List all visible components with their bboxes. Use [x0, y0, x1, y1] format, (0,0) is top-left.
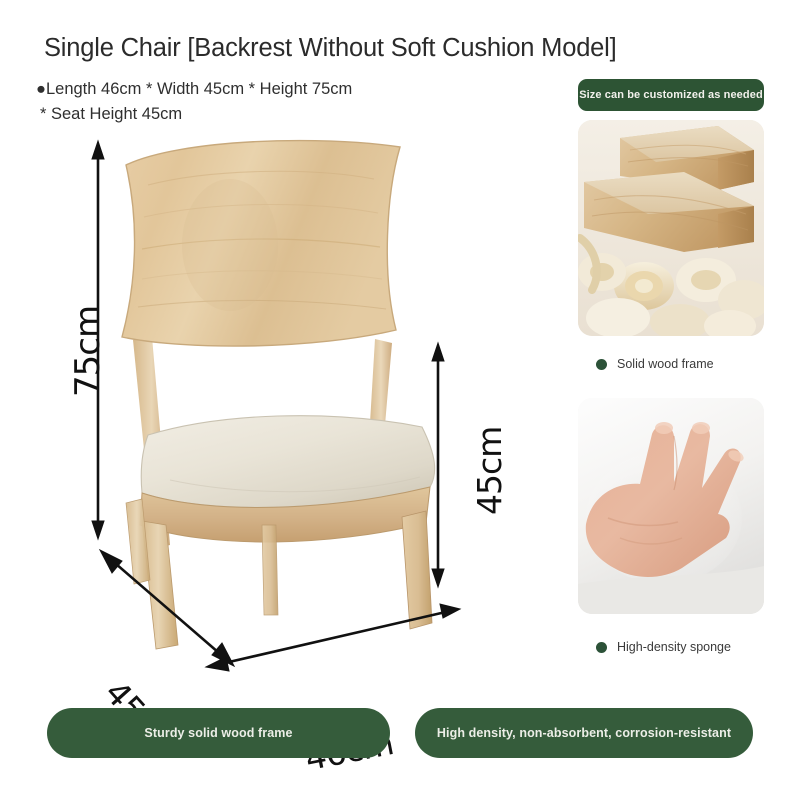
bullet-dot-icon — [596, 359, 607, 370]
feature-caption-text: Solid wood frame — [617, 357, 714, 371]
footer-pill-wood-frame: Sturdy solid wood frame — [47, 708, 390, 758]
page-title: Single Chair [Backrest Without Soft Cush… — [44, 34, 617, 63]
feature-caption-sponge: High-density sponge — [596, 640, 731, 654]
spec-line-seat-height: * Seat Height 45cm — [40, 105, 182, 124]
hand-on-foam-image — [578, 398, 764, 614]
feature-caption-text: High-density sponge — [617, 640, 731, 654]
product-infographic: Single Chair [Backrest Without Soft Cush… — [0, 0, 800, 800]
chair-backrest — [122, 141, 400, 347]
dimension-label-seat-height: 45cm — [470, 427, 509, 515]
wood-beams-image — [578, 120, 764, 336]
customization-badge: Size can be customized as needed — [578, 79, 764, 111]
feature-photo-solid-wood — [578, 120, 764, 336]
feature-photo-sponge — [578, 398, 764, 614]
chair-illustration — [30, 125, 550, 685]
feature-caption-solid-wood: Solid wood frame — [596, 357, 714, 371]
spec-line-dimensions: ●Length 46cm * Width 45cm * Height 75cm — [36, 80, 352, 99]
footer-pill-high-density: High density, non-absorbent, corrosion-r… — [415, 708, 753, 758]
chair-seat-cushion — [141, 416, 434, 508]
chair-diagram: 75cm 45cm 45cm 46cm — [30, 125, 550, 685]
dimension-label-height: 75cm — [68, 306, 108, 397]
bullet-dot-icon — [596, 642, 607, 653]
